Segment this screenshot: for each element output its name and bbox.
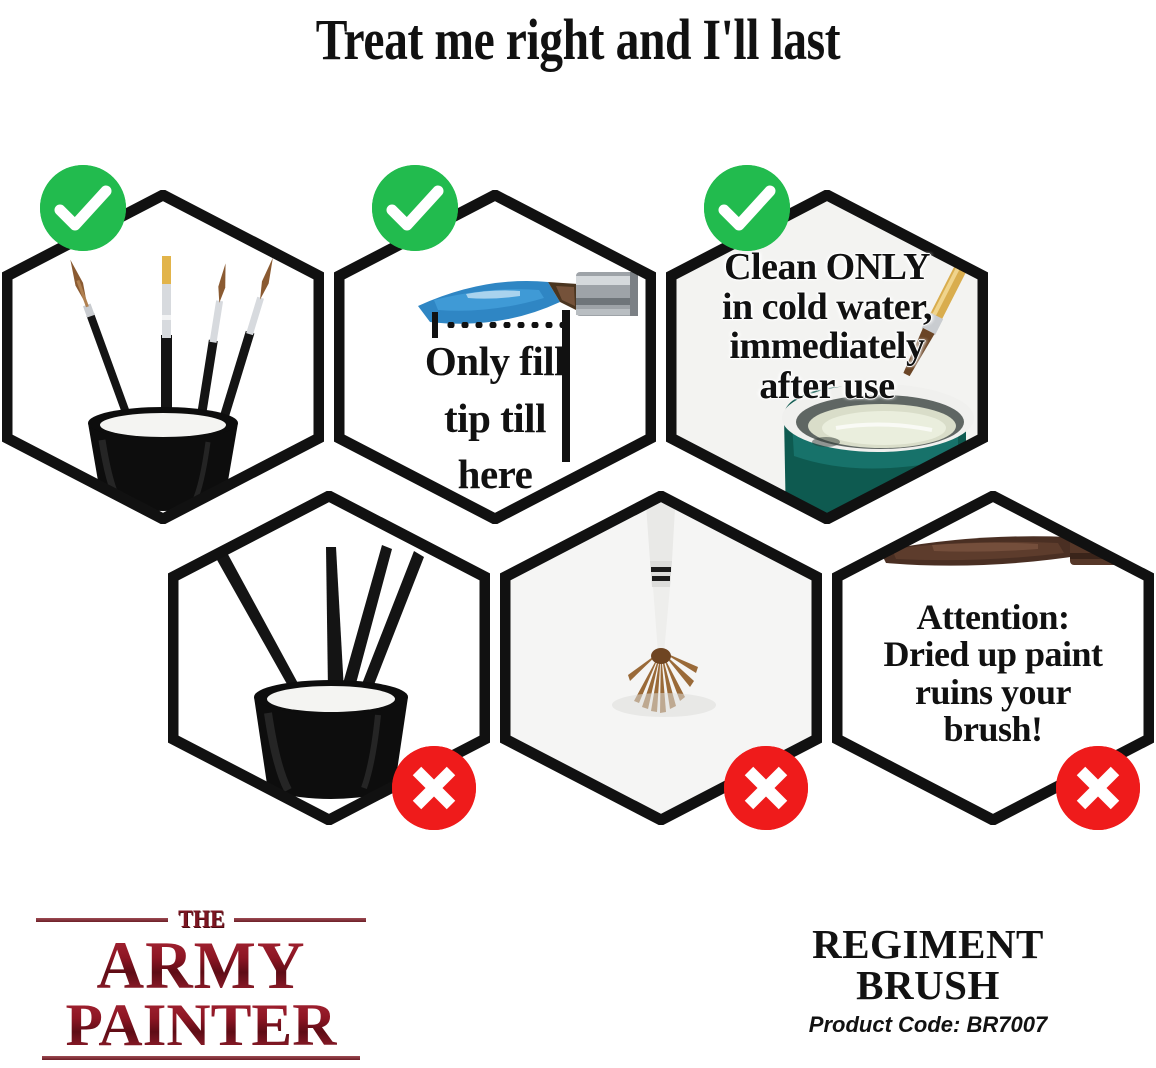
check-icon-glyph — [372, 165, 458, 251]
hex-cell-store-bristles-down — [168, 491, 490, 825]
hex-cell-clean-in-cold-water: Clean ONLY in cold water, immediately af… — [666, 190, 988, 524]
caption-dried-paint-warning: Attention: Dried up paint ruins your bru… — [832, 599, 1154, 749]
cross-icon — [724, 746, 808, 830]
caption-clean-in-cold-water: Clean ONLY in cold water, immediately af… — [666, 248, 988, 406]
logo-rule-left — [36, 918, 168, 922]
check-icon — [40, 165, 126, 251]
cross-icon-glyph — [392, 746, 476, 830]
fill-marker-left-tick — [432, 312, 438, 338]
footer: THE ARMY PAINTER REGIMENT BRUSH Product … — [0, 880, 1156, 1068]
check-icon — [704, 165, 790, 251]
logo-painter-text: PAINTER — [33, 996, 370, 1054]
product-info: REGIMENT BRUSH Product Code: BR7007 — [718, 924, 1138, 1038]
product-name-line2: BRUSH — [718, 965, 1138, 1006]
fill-marker-dotted-line — [444, 322, 562, 328]
cross-icon-glyph — [1056, 746, 1140, 830]
caption-line: brush! — [832, 711, 1154, 748]
product-name: REGIMENT BRUSH — [718, 924, 1138, 1006]
caption-line: immediately — [666, 327, 988, 367]
caption-line: Dried up paint — [832, 636, 1154, 673]
cross-icon — [1056, 746, 1140, 830]
hexagon-grid: Only fill tip till here — [0, 0, 1156, 880]
caption-line: Clean ONLY — [666, 248, 988, 288]
check-icon-glyph — [704, 165, 790, 251]
hex-cell-press-brush-down — [500, 491, 822, 825]
caption-line: Attention: — [832, 599, 1154, 636]
check-icon — [372, 165, 458, 251]
caption-line: in cold water, — [666, 288, 988, 328]
hex-cell-only-fill-tip: Only fill tip till here — [334, 190, 656, 524]
check-icon-glyph — [40, 165, 126, 251]
fill-marker-right-tick — [562, 310, 570, 462]
logo-rule-right — [234, 918, 366, 922]
product-name-line1: REGIMENT — [718, 924, 1138, 965]
caption-line: ruins your — [832, 674, 1154, 711]
cross-icon — [392, 746, 476, 830]
hex-cell-store-bristles-up — [2, 190, 324, 524]
product-code: Product Code: BR7007 — [718, 1012, 1138, 1038]
logo-army-text: ARMY — [41, 934, 361, 996]
cross-icon-glyph — [724, 746, 808, 830]
army-painter-logo: THE ARMY PAINTER — [36, 908, 366, 1060]
caption-line: after use — [666, 367, 988, 407]
hex-cell-dried-paint-warning: Attention: Dried up paint ruins your bru… — [832, 491, 1154, 825]
